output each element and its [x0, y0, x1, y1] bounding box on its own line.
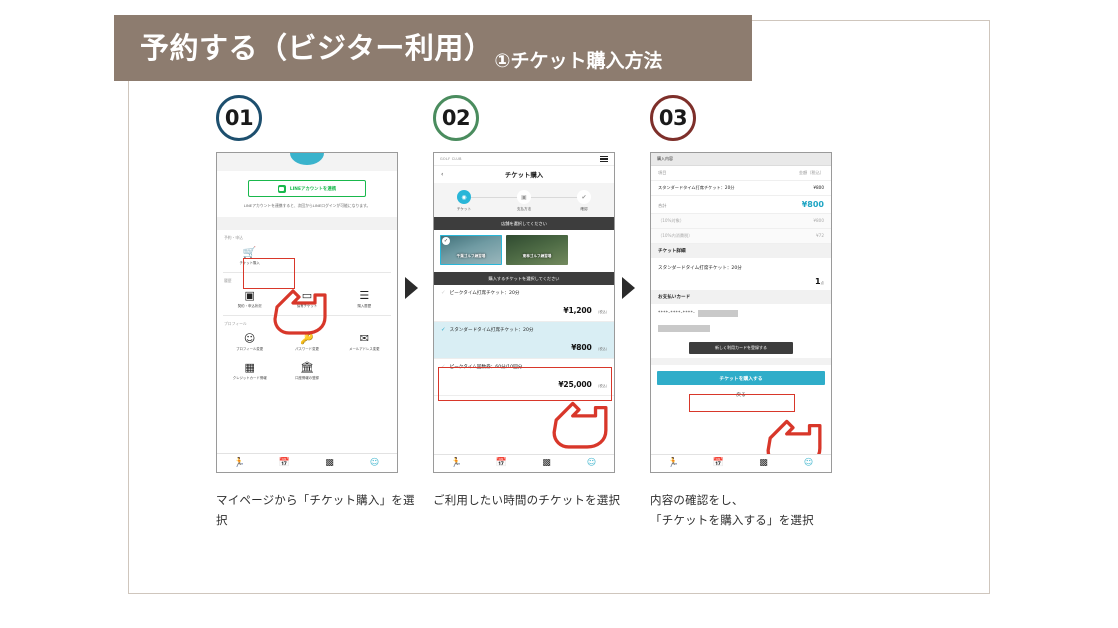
phone-mock-02: GOLF CLUB ‹ チケット購入 ◉ チケット: [433, 152, 615, 473]
row-label: スタンダードタイム打席チケット：20分: [658, 185, 734, 191]
check-icon: ✓: [441, 290, 446, 296]
stepper-item-confirm: ✔ 確認: [560, 190, 608, 212]
account-icon[interactable]: ☺: [352, 459, 397, 468]
table-row-tax-base: （10%対象） ¥800: [651, 214, 831, 229]
title-banner: 予約する（ビジター利用） ①チケット購入方法: [114, 15, 752, 81]
ticket-name: ピークタイム打席チケット：20分: [450, 290, 520, 296]
runner-icon[interactable]: 🏃: [434, 459, 479, 468]
phone-mock-01: LINEアカウントを連携 LINEアカウントを連携すると、次回からLINEログイ…: [216, 152, 398, 473]
step-number-badge-02: 02: [433, 95, 479, 141]
bottom-nav-02: 🏃 📅 ▩ ☺: [434, 454, 614, 472]
tile-bank-account[interactable]: 🏛 口座情報の登録: [278, 358, 335, 382]
section-gap: [217, 217, 397, 230]
hamburger-icon[interactable]: [600, 156, 608, 162]
ticket-icon: ▭: [302, 290, 312, 301]
screen-title-02: チケット購入: [505, 170, 543, 179]
tile-password-change[interactable]: 🔑 パスワード変更: [278, 329, 335, 353]
section-label-reserve: 予約・申込: [217, 230, 397, 243]
cart-icon: 🛒: [243, 247, 257, 258]
runner-icon[interactable]: 🏃: [217, 459, 262, 468]
step-number-badge-03: 03: [650, 95, 696, 141]
step-01: 01 LINEアカウントを連携 LINEアカウントを連携すると、次回からLINE…: [216, 95, 436, 530]
payment-card-block: ****-****-****- 新しく利用カードを登録する: [651, 304, 831, 358]
ticket-price: ¥25,000: [558, 380, 591, 389]
ticket-tax-note: (税込): [598, 347, 607, 351]
card-number-mask: ****-****-****-: [658, 311, 695, 316]
row-label: （10%内消費税）: [658, 233, 692, 239]
ticket-detail-name: スタンダードタイム打席チケット：20分: [658, 265, 824, 271]
slide-root: 予約する（ビジター利用） ①チケット購入方法 01 LINEアカウントを連携 L…: [0, 0, 1118, 628]
stepper-label-payment: 支払方法: [517, 207, 531, 212]
key-icon: 🔑: [300, 333, 314, 344]
row-label: （10%対象）: [658, 218, 684, 224]
page-subtitle: ①チケット購入方法: [494, 52, 662, 71]
page-title: 予約する（ビジター利用）: [140, 34, 493, 63]
stepper-item-payment: ▣ 支払方法: [500, 190, 548, 212]
bottom-nav-03: 🏃 📅 ▩ ☺: [651, 454, 831, 472]
step-caption-01: マイページから「チケット購入」を選択: [216, 490, 416, 530]
step-02: 02 GOLF CLUB ‹ チケット購入 ◉ チケット: [433, 95, 653, 510]
ticket-tax-note: (税込): [598, 384, 607, 388]
ticket-name: ピークタイム回数券：60分/10回分: [450, 364, 523, 370]
ticket-name: スタンダードタイム打席チケット：20分: [450, 327, 534, 333]
redaction-bar-2: [658, 325, 710, 332]
step-caption-02: ご利用したい時間のチケットを選択: [433, 490, 633, 510]
ticket-option-peak-20[interactable]: ✓ ピークタイム打席チケット：20分 ¥1,200 (税込): [434, 285, 614, 322]
section-label-profile: プロフィール: [217, 316, 397, 329]
app-bar-02: GOLF CLUB: [434, 153, 614, 166]
tile-row-reserve: 🛒 チケット購入: [217, 243, 397, 272]
ticket-price: ¥1,200: [563, 306, 591, 315]
table-row: スタンダードタイム打席チケット：20分 ¥800: [651, 181, 831, 196]
tile-row-payment: ▦ クレジットカード情報 🏛 口座情報の登録: [217, 358, 397, 387]
calendar-icon[interactable]: 📅: [262, 459, 307, 468]
phone-mock-03: 購入内容 項目 金額（税込） スタンダードタイム打席チケット：20分 ¥800 …: [650, 152, 832, 473]
bottom-nav-01: 🏃 📅 ▩ ☺: [217, 453, 397, 472]
shop-name-2: 東林ゴルフ練習場: [506, 254, 568, 259]
row-value: ¥72: [816, 233, 824, 238]
ticket-price: ¥800: [571, 343, 591, 352]
section-label-history: 履歴: [217, 273, 397, 286]
row-label: 合計: [658, 203, 666, 209]
row-value: ¥800: [813, 185, 824, 190]
tile-email-change[interactable]: ✉ メールアドレス変更: [336, 329, 393, 353]
ticket-tax-note: (税込): [598, 310, 607, 314]
tile-empty-b: [336, 243, 393, 267]
avatar: [290, 152, 324, 165]
tile-profile-edit[interactable]: ☺ プロフィール変更: [221, 329, 278, 353]
tile-label-credit-card: クレジットカード情報: [233, 376, 267, 380]
tile-label-password-change: パスワード変更: [295, 347, 319, 351]
row-value: ¥800: [813, 218, 824, 223]
ticket-detail-qty-row: 1点: [658, 277, 824, 286]
tile-purchase-history[interactable]: ☰ 購入履歴: [336, 286, 393, 310]
qr-icon[interactable]: ▩: [741, 459, 786, 468]
steps-container: 01 LINEアカウントを連携 LINEアカウントを連携すると、次回からLINE…: [128, 95, 990, 565]
card-step-icon: ▣: [517, 190, 531, 204]
list-icon: ☰: [359, 290, 369, 301]
back-button[interactable]: 戻る: [651, 391, 831, 403]
table-row-tax-amount: （10%内消費税） ¥72: [651, 229, 831, 244]
check-icon: ✓: [441, 364, 446, 370]
step-number-badge-01: 01: [216, 95, 262, 141]
check-icon: ✓: [442, 237, 450, 245]
ticket-option-standard-20[interactable]: ✓ スタンダードタイム打席チケット：20分 ¥800 (税込): [434, 322, 614, 359]
ticket-select-note: 購入するチケットを選択してください: [434, 272, 614, 285]
card-number-row: ****-****-****-: [658, 310, 824, 317]
person-icon: ☺: [244, 333, 255, 344]
step-03: 03 購入内容 項目 金額（税込） スタンダードタイム打席チケット：20分 ¥8…: [650, 95, 870, 530]
section-title-card: お支払いカード: [651, 290, 831, 304]
shop-name-1: 千葉ゴルフ練習場: [440, 254, 502, 259]
line-link-section: LINEアカウントを連携 LINEアカウントを連携すると、次回からLINEログイ…: [217, 171, 397, 217]
hand-pointer-icon-02: [547, 389, 613, 449]
stepper-item-ticket: ◉ チケット: [440, 190, 488, 212]
ticket-option-peak-coupon[interactable]: ✓ ピークタイム回数券：60分/10回分 ¥25,000 (税込): [434, 359, 614, 396]
progress-stepper: ◉ チケット ▣ 支払方法 ✔ 確認: [434, 183, 614, 217]
tile-label-owned-tickets: 保有チケット: [297, 304, 317, 308]
account-icon[interactable]: ☺: [786, 459, 831, 468]
tile-contract-status[interactable]: ▣ 契約・申込状況: [221, 286, 278, 310]
shop-card[interactable]: 東林ゴルフ練習場: [506, 235, 568, 265]
runner-icon[interactable]: 🏃: [651, 459, 696, 468]
tile-label-contract-status: 契約・申込状況: [238, 304, 262, 308]
bank-icon: 🏛: [300, 362, 314, 373]
section-header-purchase: 購入内容: [651, 153, 831, 166]
section-title-purchase: 購入内容: [657, 156, 673, 162]
calendar-icon[interactable]: 📅: [479, 459, 524, 468]
qr-icon[interactable]: ▩: [307, 459, 352, 468]
stepper-label-ticket: チケット: [457, 207, 471, 212]
line-link-note: LINEアカウントを連携すると、次回からLINEログインが可能になります。: [227, 203, 387, 209]
tile-label-profile-edit: プロフィール変更: [236, 347, 263, 351]
step-caption-03-line2: 「チケットを購入する」を選択: [650, 510, 850, 530]
mail-icon: ✉: [360, 333, 369, 344]
check-icon: ✓: [441, 327, 446, 333]
screen-title-bar-02: ‹ チケット購入: [434, 166, 614, 183]
ticket-detail-unit: 点: [821, 281, 824, 285]
tile-label-ticket-purchase: チケット購入: [239, 261, 259, 265]
section-title-detail: チケット詳細: [651, 244, 831, 258]
column-header-amount: 金額（税込）: [799, 170, 824, 176]
tile-empty-c: [336, 358, 393, 382]
line-icon: [278, 185, 286, 193]
tile-row-history: ▣ 契約・申込状況 ▭ 保有チケット ☰ 購入履歴: [217, 286, 397, 315]
tile-label-purchase-history: 購入履歴: [358, 304, 372, 308]
shop-select-note: 店舗を選択してください: [434, 217, 614, 230]
calendar-icon[interactable]: 📅: [696, 459, 741, 468]
tile-credit-card[interactable]: ▦ クレジットカード情報: [221, 358, 278, 382]
row-value: ¥800: [802, 200, 824, 209]
brand-label: GOLF CLUB: [440, 157, 462, 161]
separator: [651, 358, 831, 365]
check-step-icon: ✔: [577, 190, 591, 204]
tile-label-bank-account: 口座情報の登録: [295, 376, 319, 380]
tile-owned-tickets[interactable]: ▭ 保有チケット: [278, 286, 335, 310]
credit-card-icon: ▦: [244, 362, 254, 373]
tile-row-profile: ☺ プロフィール変更 🔑 パスワード変更 ✉ メールアドレス変更: [217, 329, 397, 358]
stepper-label-confirm: 確認: [580, 207, 587, 212]
chevron-left-icon[interactable]: ‹: [441, 171, 443, 178]
qr-icon[interactable]: ▩: [524, 459, 569, 468]
table-header-row: 項目 金額（税込）: [651, 166, 831, 181]
ticket-detail-block: スタンダードタイム打席チケット：20分 1点: [651, 258, 831, 290]
step-caption-03: 内容の確認をし、 「チケットを購入する」を選択: [650, 490, 850, 530]
account-icon[interactable]: ☺: [569, 459, 614, 468]
shop-list: ✓ 千葉ゴルフ練習場 東林ゴルフ練習場: [434, 230, 614, 270]
line-link-button[interactable]: LINEアカウントを連携: [248, 180, 366, 197]
ticket-step-icon: ◉: [457, 190, 471, 204]
shop-card-selected[interactable]: ✓ 千葉ゴルフ練習場: [440, 235, 502, 265]
tile-ticket-purchase[interactable]: 🛒 チケット購入: [221, 243, 278, 267]
step-caption-03-line1: 内容の確認をし、: [650, 490, 850, 510]
profile-header-area: [217, 153, 397, 171]
line-link-label: LINEアカウントを連携: [290, 186, 336, 192]
table-row-total: 合計 ¥800: [651, 196, 831, 214]
redaction-bar-1: [698, 310, 738, 317]
column-header-item: 項目: [658, 170, 666, 176]
id-card-icon: ▣: [244, 290, 254, 301]
tile-label-email-change: メールアドレス変更: [349, 347, 380, 351]
register-card-button[interactable]: 新しく利用カードを登録する: [689, 342, 793, 354]
buy-ticket-button[interactable]: チケットを購入する: [657, 371, 825, 385]
tile-empty-a: [278, 243, 335, 267]
